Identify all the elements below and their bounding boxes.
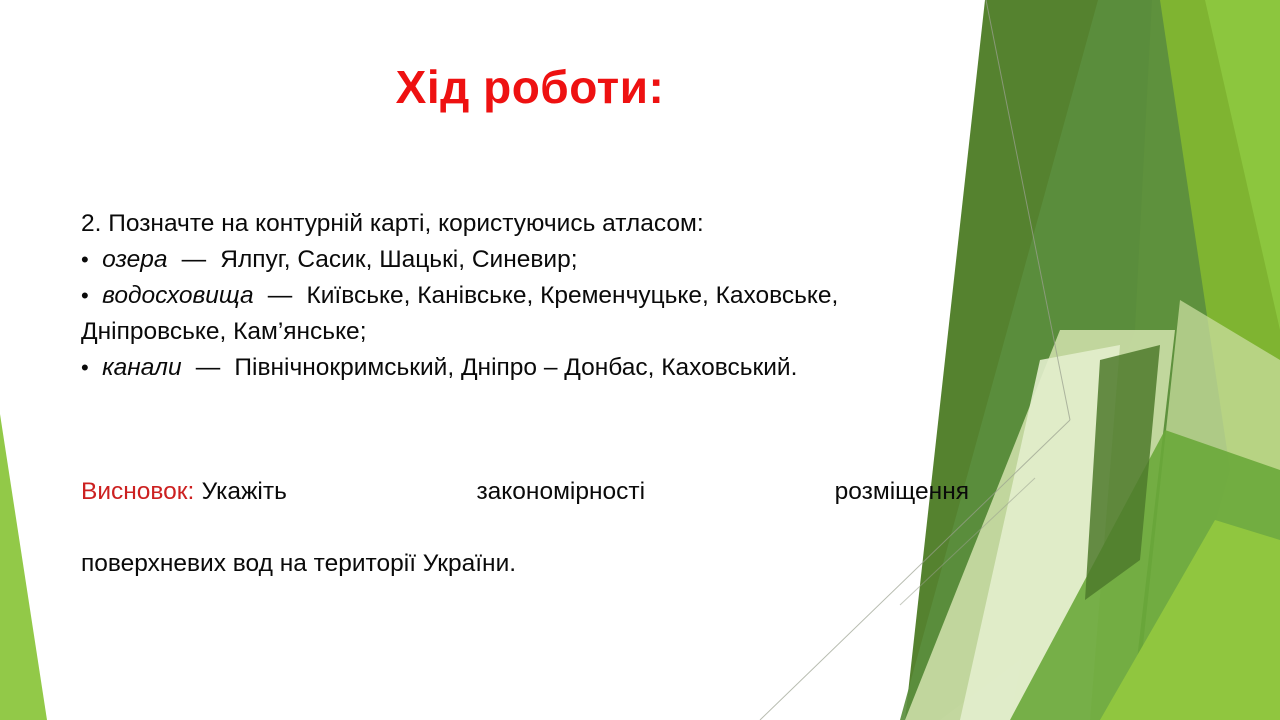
deco-pale-highlight — [960, 345, 1120, 720]
body-intro-line: 2. Позначте на контурній карті, користую… — [81, 206, 971, 242]
bullet-values-canals: Північнокримський, Дніпро – Донбас, Кахо… — [234, 354, 797, 381]
deco-green-overlay-lower — [1010, 430, 1280, 720]
deco-right-bright-green — [1020, 0, 1280, 720]
deco-right-lime-column — [1010, 0, 1280, 720]
bullet-dash-reservoirs: — — [268, 282, 293, 309]
bullet-dash-lakes: — — [182, 246, 207, 273]
body-text-block: 2. Позначте на контурній карті, користую… — [81, 206, 971, 386]
bullet-term-lakes: озера — [102, 246, 167, 273]
slide-title: Хід роботи: — [80, 62, 980, 113]
bullet-term-canals: канали — [102, 354, 181, 381]
slide-canvas: Хід роботи: 2. Позначте на контурній кар… — [0, 0, 1280, 720]
bullet-item-reservoirs: • водосховища — Київське, Канівське, Кре… — [81, 278, 971, 350]
conclusion-line2: поверхневих вод на території України. — [81, 546, 969, 582]
deco-pale-sweep-right — [1135, 300, 1280, 720]
bullet-marker-canals: • — [81, 355, 89, 380]
deco-hairline-top — [986, 0, 1070, 420]
bullet-term-reservoirs: водосховища — [102, 282, 254, 309]
bullet-dash-canals: — — [196, 354, 221, 381]
deco-left-wedge — [0, 414, 47, 720]
deco-dark-accent-bottom — [1085, 345, 1160, 600]
bullet-marker-lakes: • — [81, 247, 89, 272]
deco-lime-bottom-right — [1100, 520, 1280, 720]
bullet-item-canals: • канали — Північнокримський, Дніпро – Д… — [81, 350, 971, 386]
conclusion-block: Висновок:Укажіть закономірності розміщен… — [81, 474, 969, 582]
bullet-marker-reservoirs: • — [81, 283, 89, 308]
bullet-values-lakes: Ялпуг, Сасик, Шацькі, Синевир; — [220, 246, 577, 273]
bullet-item-lakes: • озера — Ялпуг, Сасик, Шацькі, Синевир; — [81, 242, 971, 278]
conclusion-first-line: Висновок:Укажіть закономірності розміщен… — [81, 474, 969, 546]
conclusion-line1: Укажіть закономірності розміщення — [202, 478, 969, 505]
conclusion-label: Висновок: — [81, 478, 194, 505]
